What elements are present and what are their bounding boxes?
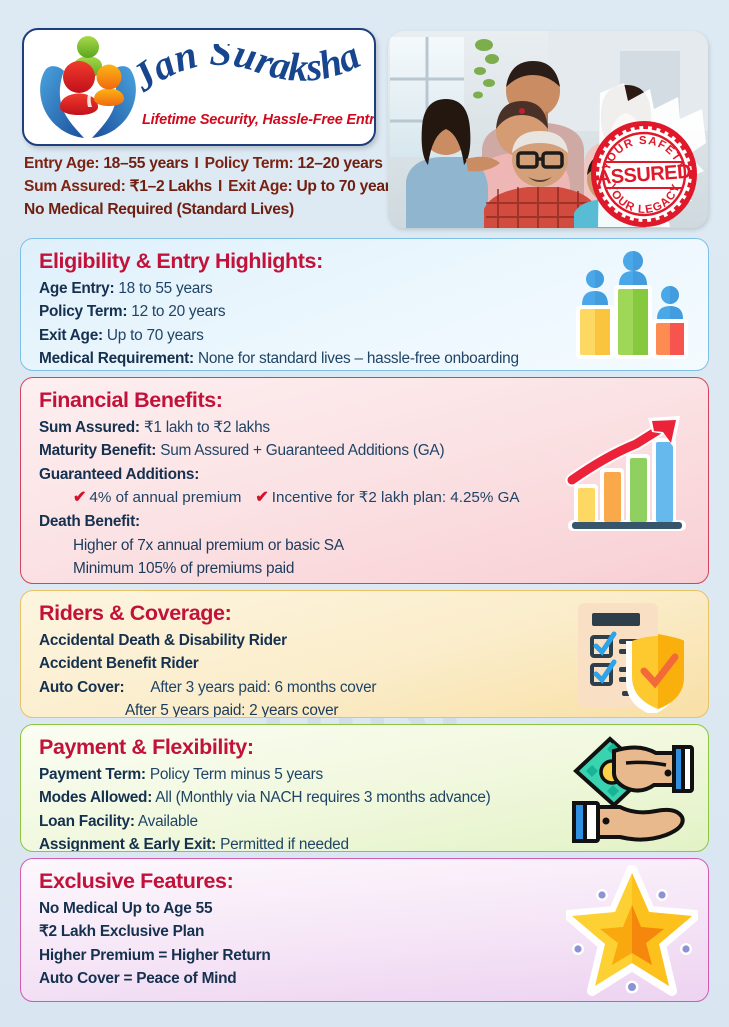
check-text-1: 4% of annual premium	[89, 489, 241, 506]
value-auto-cover-1: After 3 years paid: 6 months cover	[128, 679, 376, 696]
hands-holding-family-icon	[32, 33, 144, 145]
value-exit-age: Up to 70 years	[107, 327, 204, 344]
label-sum-assured: Sum Assured:	[39, 419, 140, 436]
check-icon-2: ✔	[255, 489, 271, 506]
brand-logo-box: Jan Suraksha Lifetime Security, Hassle-F…	[22, 28, 376, 146]
label-maturity-benefit: Maturity Benefit:	[39, 442, 156, 459]
brand-tagline: Lifetime Security, Hassle-Free Entry	[142, 112, 374, 128]
header-meta: Entry Age: 18–55 years I Policy Term: 12…	[24, 153, 394, 221]
row-death-benefit-item-2: Minimum 105% of premiums paid	[39, 557, 692, 580]
card-exclusive-features: Exclusive Features: No Medical Up to Age…	[20, 858, 709, 1002]
checklist-shield-icon	[572, 601, 694, 713]
label-auto-cover: Auto Cover:	[39, 679, 124, 696]
meta-label-policy-term: Policy Term:	[205, 155, 294, 172]
value-medical-requirement: None for standard lives – hassle-free on…	[198, 350, 519, 367]
check-icon-1: ✔	[73, 489, 89, 506]
label-policy-term: Policy Term:	[39, 303, 127, 320]
label-loan-facility: Loan Facility:	[39, 813, 135, 830]
card-eligibility: Eligibility & Entry Highlights: Age Entr…	[20, 238, 709, 371]
value-assignment-early-exit: Permitted if needed	[220, 836, 349, 852]
card-title-financial-benefits: Financial Benefits:	[39, 387, 692, 414]
value-loan-facility: Available	[138, 813, 198, 830]
brand-wordmark: Jan Suraksha	[136, 44, 374, 110]
card-financial-benefits: Financial Benefits: Sum Assured: ₹1 lakh…	[20, 377, 709, 584]
label-payment-term: Payment Term:	[39, 766, 146, 783]
svg-text:Jan Suraksha: Jan Suraksha	[136, 44, 367, 101]
growth-arrow-chart-icon	[564, 416, 696, 538]
label-exit-age: Exit Age:	[39, 327, 103, 344]
label-age-entry: Age Entry:	[39, 280, 114, 297]
meta-label-sum-assured: Sum Assured:	[24, 178, 126, 195]
meta-value-no-medical: No Medical Required (Standard Lives)	[24, 201, 294, 218]
infographic-page: HIDI CORPORATION	[0, 0, 729, 1027]
meta-line-no-medical: No Medical Required (Standard Lives)	[24, 199, 394, 222]
check-text-2: Incentive for ₹2 lakh plan: 4.25% GA	[272, 489, 520, 506]
assured-stamp: YOUR SAFETY ASSURED YOUR LEGACY	[588, 118, 700, 230]
label-medical-requirement: Medical Requirement:	[39, 350, 194, 367]
star-sparkle-icon	[566, 865, 698, 997]
card-riders-coverage: Riders & Coverage: Accidental Death & Di…	[20, 590, 709, 718]
meta-label-entry-age: Entry Age:	[24, 155, 99, 172]
hands-exchanging-money-icon	[570, 733, 698, 851]
meta-separator-2: I	[216, 178, 224, 195]
meta-line-entry-policy: Entry Age: 18–55 years I Policy Term: 12…	[24, 153, 394, 176]
value-sum-assured: ₹1 lakh to ₹2 lakhs	[144, 419, 270, 436]
value-payment-term: Policy Term minus 5 years	[150, 766, 323, 783]
meta-line-sum-exit: Sum Assured: ₹1–2 Lakhs I Exit Age: Up t…	[24, 176, 394, 199]
card-payment-flexibility: Payment & Flexibility: Payment Term: Pol…	[20, 724, 709, 852]
meta-separator: I	[193, 155, 201, 172]
meta-value-exit-age: Up to 70 years	[296, 178, 398, 195]
meta-value-policy-term: 12–20 years	[298, 155, 383, 172]
meta-value-sum-assured: ₹1–2 Lakhs	[130, 178, 212, 195]
label-modes-allowed: Modes Allowed:	[39, 789, 152, 806]
value-maturity-benefit: Sum Assured + Guaranteed Additions (GA)	[160, 442, 444, 459]
value-modes-allowed: All (Monthly via NACH requires 3 months …	[155, 789, 490, 806]
meta-value-entry-age: 18–55 years	[103, 155, 188, 172]
header: Jan Suraksha Lifetime Security, Hassle-F…	[22, 28, 708, 230]
label-assignment-early-exit: Assignment & Early Exit:	[39, 836, 216, 852]
bar-chart-people-icon	[570, 251, 692, 361]
value-policy-term: 12 to 20 years	[131, 303, 225, 320]
value-age-entry: 18 to 55 years	[118, 280, 212, 297]
meta-label-exit-age: Exit Age:	[228, 178, 292, 195]
